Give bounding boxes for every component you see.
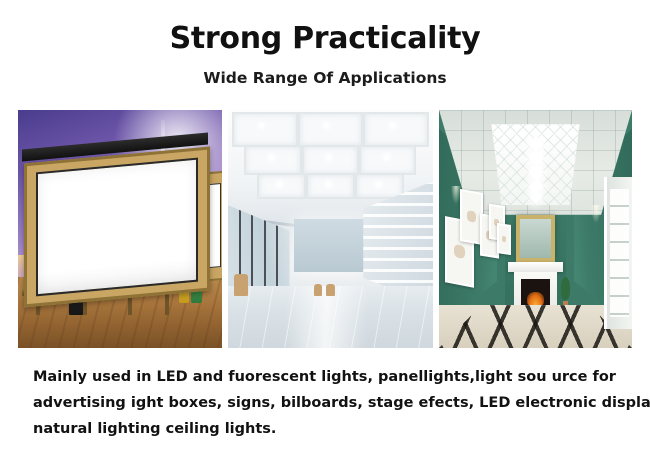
hallway-scene	[439, 110, 632, 348]
application-caption: Mainly used in LED and fuorescent lights…	[33, 364, 633, 442]
fireplace-opening	[521, 279, 550, 308]
lounge-chair	[314, 284, 322, 296]
recessed-downlight	[269, 155, 274, 160]
product-feature-banner: Strong Practicality Wide Range Of Applic…	[0, 0, 650, 465]
billboard-lightbox-frame	[24, 147, 210, 308]
caption-line-2: advertising ight boxes, signs, bilboards…	[33, 390, 633, 416]
ceiling-coffer	[232, 112, 298, 147]
corridor-far-end-window	[294, 219, 368, 271]
plant-foliage	[561, 277, 571, 301]
fire-flame	[527, 292, 543, 306]
gallery-image-green-hallway-ceiling-lights	[439, 110, 632, 348]
ceiling-coffer	[306, 173, 355, 199]
gold-framed-mirror	[516, 215, 555, 263]
ceiling-coffer	[244, 145, 301, 175]
illuminated-white-panel	[36, 158, 198, 297]
lounge-chair	[326, 284, 334, 296]
ceiling-coffer	[298, 112, 364, 147]
heading-block: Strong Practicality Wide Range Of Applic…	[0, 22, 650, 88]
ceiling-coffer	[302, 145, 359, 175]
recessed-downlight	[376, 182, 381, 187]
glass-door	[604, 177, 632, 329]
corridor-scene	[228, 110, 433, 348]
lounge-chair	[234, 274, 248, 295]
fireplace-mantel	[508, 262, 562, 272]
wall-wash-light	[591, 205, 601, 223]
recessed-downlight	[384, 155, 389, 160]
ceiling-coffer	[363, 112, 429, 147]
gallery-image-office-corridor-led-panel-lights	[228, 110, 433, 348]
billboard-scene	[18, 110, 222, 348]
framed-picture	[497, 223, 511, 255]
caption-line-1: Mainly used in LED and fuorescent lights…	[33, 364, 633, 390]
page-title: Strong Practicality	[0, 22, 650, 56]
gallery-image-outdoor-led-billboard-lightbox	[18, 110, 222, 348]
ceiling-coffer	[359, 145, 416, 175]
application-image-gallery	[18, 110, 632, 348]
ceiling-coffer	[257, 173, 306, 199]
page-subtitle: Wide Range Of Applications	[0, 68, 650, 88]
recessed-downlight	[259, 123, 264, 128]
caption-line-3: natural lighting ceiling lights.	[33, 416, 633, 442]
